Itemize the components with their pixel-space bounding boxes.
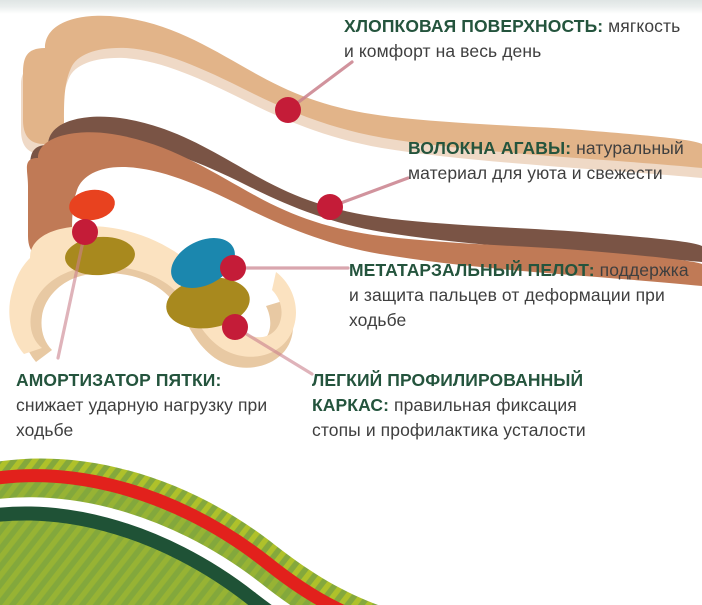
marker-dot-frame[interactable]: [222, 314, 248, 340]
callout-title-heel: АМОРТИЗАТОР ПЯТКИ:: [16, 370, 221, 390]
callout-cotton-surface: ХЛОПКОВАЯ ПОВЕРХНОСТЬ: мягкость и комфор…: [344, 14, 684, 64]
marker-dot-metatarsal[interactable]: [220, 255, 246, 281]
insole-infographic: ХЛОПКОВАЯ ПОВЕРХНОСТЬ: мягкость и комфор…: [0, 0, 702, 605]
green-ribbon-decoration: [0, 459, 420, 605]
callout-metatarsal-pad: МЕТАТАРЗАЛЬНЫЙ ПЕЛОТ: поддержка и защита…: [349, 258, 699, 333]
marker-dot-heel[interactable]: [72, 219, 98, 245]
marker-dot-agave[interactable]: [317, 194, 343, 220]
callout-title-metatarsal: МЕТАТАРЗАЛЬНЫЙ ПЕЛОТ:: [349, 260, 595, 280]
callout-agave-fibers: ВОЛОКНА АГАВЫ: натуральный материал для …: [408, 136, 694, 186]
callout-title-agave: ВОЛОКНА АГАВЫ:: [408, 138, 571, 158]
callout-title-cotton: ХЛОПКОВАЯ ПОВЕРХНОСТЬ:: [344, 16, 603, 36]
callout-body-heel: снижает ударную нагрузку при ходьбе: [16, 395, 267, 440]
callout-heel-shock-absorber: АМОРТИЗАТОР ПЯТКИ: снижает ударную нагру…: [16, 368, 286, 443]
marker-dot-cotton[interactable]: [275, 97, 301, 123]
callout-lightweight-frame: ЛЕГКИЙ ПРОФИЛИРОВАННЫЙ КАРКАС: правильна…: [312, 368, 602, 443]
